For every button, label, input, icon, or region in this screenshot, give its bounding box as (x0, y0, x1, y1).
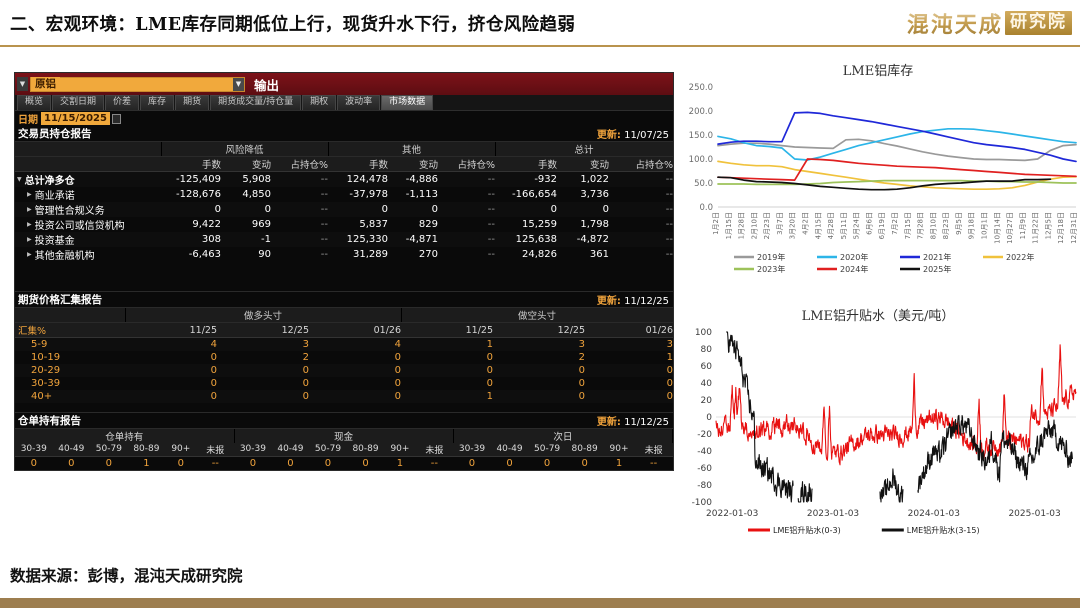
cot-cell: 0 (557, 202, 609, 217)
futures-cell: 3 (585, 338, 673, 351)
cot-cell: -- (438, 202, 495, 217)
cot-group-total: 总计 (495, 142, 673, 157)
svg-text:8月23日: 8月23日 (942, 212, 950, 239)
cot-cell: -- (609, 172, 673, 188)
svg-text:-40: -40 (697, 447, 712, 457)
expand-arrow-icon[interactable]: ▼ (17, 77, 28, 91)
cot-cell: -- (271, 172, 328, 188)
table-row[interactable]: ▶商业承诺 -128,676 4,850 -- -37,978 -1,113 -… (15, 187, 673, 202)
cot-cell: -166,654 (495, 187, 557, 202)
cot-cell: 0 (495, 202, 557, 217)
warrant-col: 50-79 (528, 443, 566, 457)
cot-cell: -- (271, 187, 328, 202)
warrant-title: 仓单持有报告 (18, 413, 81, 428)
svg-text:100: 100 (695, 328, 712, 338)
futures-cell: 0 (493, 377, 585, 390)
warrant-cell: 0 (165, 456, 196, 470)
futures-cell: 0 (309, 351, 401, 364)
futures-group-header: 做多头寸 做空头寸 (15, 308, 673, 323)
futures-cell: 0 (309, 377, 401, 390)
security-selector[interactable]: 原铝 ▼ (30, 77, 245, 92)
svg-text:4月15日: 4月15日 (814, 212, 822, 239)
futures-column-header: 汇集% 11/25 12/25 01/26 11/25 12/25 01/26 (15, 323, 673, 338)
cot-cell: -- (438, 232, 495, 247)
cot-cell: -6,463 (161, 247, 221, 262)
tab-delivery-date[interactable]: 交割日期 (52, 95, 104, 110)
svg-text:10月27日: 10月27日 (1006, 212, 1014, 244)
svg-text:1月2日: 1月2日 (712, 212, 720, 235)
date-selector-row: 日期 11/15/2025 (15, 111, 673, 126)
tab-spread[interactable]: 价差 (105, 95, 139, 110)
table-row[interactable]: ▶管理性合规义务 0 0 -- 0 0 -- 0 0 -- (15, 202, 673, 217)
security-name: 原铝 (31, 77, 60, 91)
cot-cell: 361 (557, 247, 609, 262)
svg-text:5月11日: 5月11日 (840, 212, 848, 239)
cot-cell: 308 (161, 232, 221, 247)
futures-cell: 0 (401, 351, 493, 364)
cot-cell: 0 (328, 202, 388, 217)
cot-cell: -- (609, 247, 673, 262)
slide: 二、宏观环境：LME库存同期低位上行，现货升水下行，挤仓风险趋弱 混沌天成 研究… (0, 0, 1080, 608)
svg-text:11月9日: 11月9日 (1019, 212, 1027, 239)
futures-col-long-2: 12/25 (217, 323, 309, 338)
table-row[interactable]: ▶投资公司或信贷机构 9,422 969 -- 5,837 829 -- 15,… (15, 217, 673, 232)
svg-text:7月2日: 7月2日 (891, 212, 899, 235)
svg-text:10月1日: 10月1日 (981, 212, 989, 239)
warrant-cell: -- (196, 456, 234, 470)
cot-cell: -- (271, 217, 328, 232)
tab-volatility[interactable]: 波动率 (337, 95, 380, 110)
bloomberg-terminal-panel: ▼ 原铝 ▼ 输出 概览 交割日期 价差 库存 期货 期货成交量/持仓量 期权 … (14, 72, 674, 471)
table-row[interactable]: 40+ 0 0 0 1 0 0 (15, 390, 673, 403)
cot-cell: 124,478 (328, 172, 388, 188)
svg-text:2月10日: 2月10日 (750, 212, 758, 239)
cot-cell: -- (438, 187, 495, 202)
futures-row-label: 40+ (15, 390, 125, 403)
cot-col-pct-2: 占持仓% (438, 157, 495, 172)
cot-group-header: 风险降低 其他 总计 (15, 142, 673, 157)
cot-cell: -- (609, 187, 673, 202)
warrant-updated: 更新: 11/12/25 (597, 413, 669, 428)
futures-col-short-1: 11/25 (401, 323, 493, 338)
futures-cell: 0 (401, 364, 493, 377)
cot-cell: 969 (221, 217, 271, 232)
svg-text:9月5日: 9月5日 (955, 212, 963, 235)
svg-text:4月2日: 4月2日 (802, 212, 810, 235)
tab-market-data[interactable]: 市场数据 (381, 95, 433, 110)
warrant-table: 仓单持有 现金 次日 30-39 40-49 50-79 80-89 90+ 未… (15, 429, 673, 471)
futures-cell: 0 (125, 351, 217, 364)
svg-text:2021年: 2021年 (923, 252, 951, 262)
warrant-col: 50-79 (309, 443, 347, 457)
warrant-col: 90+ (603, 443, 634, 457)
warrant-column-header: 30-39 40-49 50-79 80-89 90+ 未报 30-39 40-… (15, 443, 673, 457)
lme-inventory-chart: LME铝库存 0.050.0100.0150.0200.0250.01月2日1月… (676, 60, 1080, 275)
chart1-title: LME铝库存 (676, 60, 1080, 79)
svg-text:2024-01-03: 2024-01-03 (908, 509, 960, 519)
warrant-col: 30-39 (15, 443, 53, 457)
svg-text:2024年: 2024年 (840, 264, 868, 274)
svg-text:12月31日: 12月31日 (1070, 212, 1078, 244)
futures-col-short-2: 12/25 (493, 323, 585, 338)
svg-text:2025年: 2025年 (923, 264, 951, 274)
warrant-cell: -- (416, 456, 454, 470)
svg-text:6月6日: 6月6日 (865, 212, 873, 235)
page-title: 二、宏观环境：LME库存同期低位上行，现货升水下行，挤仓风险趋弱 (10, 11, 575, 36)
svg-text:2023-01-03: 2023-01-03 (807, 509, 859, 519)
output-button[interactable]: 输出 (254, 75, 279, 94)
cot-cell: -- (271, 232, 328, 247)
brand-logo: 混沌天成 研究院 (907, 6, 1072, 40)
chart1-canvas: 0.050.0100.0150.0200.0250.01月2日1月15日1月28… (676, 79, 1080, 275)
warrant-cell: 0 (53, 456, 91, 470)
cot-group-risk-reduce: 风险降低 (161, 142, 328, 157)
warrant-col: 80-89 (347, 443, 385, 457)
warrant-cell: 0 (491, 456, 529, 470)
warrant-col: 未报 (416, 443, 454, 457)
warrant-cell: 1 (384, 456, 415, 470)
table-row[interactable]: 10-19 0 2 0 0 2 1 (15, 351, 673, 364)
slide-header: 二、宏观环境：LME库存同期低位上行，现货升水下行，挤仓风险趋弱 混沌天成 研究… (0, 0, 1080, 52)
warrant-cell: 0 (272, 456, 310, 470)
futures-col-short-3: 01/26 (585, 323, 673, 338)
warrant-col: 30-39 (453, 443, 491, 457)
svg-text:2025-01-03: 2025-01-03 (1008, 509, 1060, 519)
warrant-col: 80-89 (566, 443, 604, 457)
futures-cell: 1 (401, 390, 493, 403)
futures-cell: 0 (585, 390, 673, 403)
cot-cell: -- (271, 202, 328, 217)
futures-group-blank (15, 308, 125, 323)
cot-cell: 4,850 (221, 187, 271, 202)
futures-cell: 1 (585, 351, 673, 364)
svg-text:11月22日: 11月22日 (1032, 212, 1040, 244)
futures-table: 做多头寸 做空头寸 汇集% 11/25 12/25 01/26 11/25 12… (15, 308, 674, 403)
cot-cell: -1,113 (388, 187, 438, 202)
svg-text:2022年: 2022年 (1006, 252, 1034, 262)
warrant-col: 未报 (635, 443, 673, 457)
futures-cell: 0 (125, 390, 217, 403)
cot-group-blank (15, 142, 161, 157)
cot-cell: -- (609, 232, 673, 247)
cot-cell: -932 (495, 172, 557, 188)
cot-cell: -37,978 (328, 187, 388, 202)
cot-cell: -4,872 (557, 232, 609, 247)
svg-text:7月15日: 7月15日 (904, 212, 912, 239)
cot-row-label: 其他金融机构 (35, 247, 95, 262)
cot-cell: 0 (161, 202, 221, 217)
futures-row-label: 30-39 (15, 377, 125, 390)
svg-text:0: 0 (706, 413, 712, 423)
svg-text:10月14日: 10月14日 (993, 212, 1001, 244)
warrant-col: 90+ (165, 443, 196, 457)
warrant-col: 40-49 (53, 443, 91, 457)
cot-cell: 9,422 (161, 217, 221, 232)
warrant-col: 40-49 (491, 443, 529, 457)
cot-cell: -- (271, 247, 328, 262)
cot-cell: -- (609, 217, 673, 232)
futures-cell: 0 (493, 390, 585, 403)
svg-text:2022-01-03: 2022-01-03 (706, 509, 758, 519)
warrant-cell: 0 (309, 456, 347, 470)
chart2-canvas: -100-80-60-40-200204060801002022-01-0320… (676, 324, 1080, 552)
expand-caret-icon[interactable]: ▶ (27, 191, 32, 198)
svg-text:250.0: 250.0 (689, 83, 713, 93)
warrant-col: 40-49 (272, 443, 310, 457)
cot-row-label: 管理性合规义务 (35, 202, 105, 217)
chart2-title: LME铝升贴水（美元/吨） (676, 305, 1080, 324)
futures-empty-space (15, 403, 673, 413)
futures-section-header: 期货价格汇集报告 更新: 11/12/25 (15, 292, 673, 308)
terminal-topbar: ▼ 原铝 ▼ 输出 (15, 73, 673, 95)
futures-cell: 2 (217, 351, 309, 364)
svg-text:LME铝升贴水(3-15): LME铝升贴水(3-15) (907, 525, 980, 535)
cot-col-change-2: 变动 (388, 157, 438, 172)
cot-cell: 15,259 (495, 217, 557, 232)
svg-text:4月28日: 4月28日 (827, 212, 835, 239)
cot-cell: 270 (388, 247, 438, 262)
futures-cell: 0 (585, 377, 673, 390)
warrant-cell: 0 (453, 456, 491, 470)
cot-cell: -128,676 (161, 187, 221, 202)
futures-row-label: 20-29 (15, 364, 125, 377)
svg-text:5月24日: 5月24日 (853, 212, 861, 239)
cot-col-lots-3: 手数 (495, 157, 557, 172)
cot-updated: 更新: 11/07/25 (597, 126, 669, 141)
futures-cell: 0 (217, 390, 309, 403)
cot-col-lots-1: 手数 (161, 157, 221, 172)
warrant-cell: -- (635, 456, 673, 470)
cot-cell: 1,798 (557, 217, 609, 232)
svg-text:7月28日: 7月28日 (917, 212, 925, 239)
table-row[interactable]: 0 0 0 1 0 -- 0 0 0 0 1 -- 0 0 0 0 1 -- (15, 456, 673, 470)
warrant-cell: 0 (528, 456, 566, 470)
svg-text:20: 20 (701, 396, 713, 406)
svg-text:1月28日: 1月28日 (738, 212, 746, 239)
date-label: 日期 (18, 111, 38, 126)
svg-text:-100: -100 (692, 498, 713, 508)
table-row[interactable]: 30-39 0 0 0 0 0 0 (15, 377, 673, 390)
futures-col-long-3: 01/26 (309, 323, 401, 338)
futures-cell: 0 (125, 377, 217, 390)
table-row[interactable]: ▶其他金融机构 -6,463 90 -- 31,289 270 -- 24,82… (15, 247, 673, 262)
futures-title: 期货价格汇集报告 (18, 292, 102, 307)
footer-bar (0, 598, 1080, 608)
futures-cell: 0 (217, 364, 309, 377)
cot-cell: 90 (221, 247, 271, 262)
cot-cell: -- (438, 172, 495, 188)
svg-text:8月10日: 8月10日 (929, 212, 937, 239)
cot-group-other: 其他 (328, 142, 495, 157)
warrant-cell: 1 (128, 456, 166, 470)
futures-cell: 0 (401, 377, 493, 390)
warrant-col: 未报 (196, 443, 234, 457)
expand-caret-icon[interactable]: ▶ (27, 206, 32, 213)
lme-premium-chart: LME铝升贴水（美元/吨） -100-80-60-40-200204060801… (676, 305, 1080, 555)
svg-text:-20: -20 (697, 430, 712, 440)
cot-row-label: 商业承诺 (35, 187, 75, 202)
tab-overview[interactable]: 概览 (17, 95, 51, 110)
warrant-cell: 0 (15, 456, 53, 470)
svg-text:1月15日: 1月15日 (725, 212, 733, 239)
expand-caret-icon[interactable]: ▼ (17, 176, 22, 183)
warrant-cell: 1 (603, 456, 634, 470)
calendar-icon[interactable] (112, 114, 121, 124)
cot-row-label: 投资基金 (35, 232, 75, 247)
cot-cell: -- (438, 217, 495, 232)
table-row[interactable]: 5-9 4 3 4 1 3 3 (15, 338, 673, 351)
svg-text:60: 60 (701, 362, 713, 372)
cot-col-change-1: 变动 (221, 157, 271, 172)
futures-cell: 4 (125, 338, 217, 351)
svg-text:LME铝升贴水(0-3): LME铝升贴水(0-3) (773, 525, 841, 535)
svg-text:2020年: 2020年 (840, 252, 868, 262)
futures-row-label: 10-19 (15, 351, 125, 364)
svg-text:12月18日: 12月18日 (1057, 212, 1065, 244)
svg-text:2019年: 2019年 (757, 252, 785, 262)
svg-text:100.0: 100.0 (689, 155, 713, 165)
warrant-col: 80-89 (128, 443, 166, 457)
cot-cell: -4,871 (388, 232, 438, 247)
svg-text:50.0: 50.0 (694, 179, 713, 189)
futures-cell: 0 (217, 377, 309, 390)
expand-caret-icon[interactable]: ▶ (27, 236, 32, 243)
cot-cell: -4,886 (388, 172, 438, 188)
logo-seal: 研究院 (1005, 11, 1072, 35)
futures-cell: 0 (585, 364, 673, 377)
cot-cell: -- (609, 202, 673, 217)
warrant-cell: 0 (347, 456, 385, 470)
tab-inventory[interactable]: 库存 (140, 95, 174, 110)
cot-cell: -- (438, 247, 495, 262)
table-row[interactable]: ▶投资基金 308 -1 -- 125,330 -4,871 -- 125,63… (15, 232, 673, 247)
cot-cell: 125,330 (328, 232, 388, 247)
cot-cell: -1 (221, 232, 271, 247)
warrant-cell: 0 (566, 456, 604, 470)
cot-section-header: 交易员持仓报告 更新: 11/07/25 (15, 126, 673, 142)
table-row[interactable]: ▼总计净多仓 -125,409 5,908 -- 124,478 -4,886 … (15, 172, 673, 188)
data-source-note: 数据来源：彭博，混沌天成研究院 (10, 564, 243, 586)
futures-cell: 0 (493, 364, 585, 377)
cot-col-change-3: 变动 (557, 157, 609, 172)
cot-empty-space (15, 262, 673, 292)
warrant-cell: 0 (90, 456, 128, 470)
svg-text:6月19日: 6月19日 (878, 212, 886, 239)
cot-row-label: 总计净多仓 (25, 172, 75, 187)
cot-cell: 829 (388, 217, 438, 232)
logo-wordmark: 混沌天成 (906, 7, 1004, 39)
futures-row-label: 5-9 (15, 338, 125, 351)
cot-cell: 31,289 (328, 247, 388, 262)
cot-table: 风险降低 其他 总计 手数 变动 占持仓% 手数 变动 占持仓% 手数 变动 占… (15, 142, 674, 262)
svg-text:150.0: 150.0 (689, 131, 713, 141)
cot-col-pct-3: 占持仓% (609, 157, 673, 172)
futures-group-long: 做多头寸 (125, 308, 401, 323)
svg-text:-60: -60 (697, 464, 712, 474)
warrant-group-nextday: 次日 (453, 429, 672, 443)
cot-cell: 24,826 (495, 247, 557, 262)
cot-title: 交易员持仓报告 (18, 126, 92, 141)
warrant-section-header: 仓单持有报告 更新: 11/12/25 (15, 413, 673, 429)
futures-cell: 2 (493, 351, 585, 364)
futures-corner-label: 汇集% (15, 323, 125, 338)
futures-cell: 1 (401, 338, 493, 351)
cot-cell: 1,022 (557, 172, 609, 188)
terminal-tabs: 概览 交割日期 价差 库存 期货 期货成交量/持仓量 期权 波动率 市场数据 (15, 95, 673, 111)
svg-text:200.0: 200.0 (689, 107, 713, 117)
warrant-col: 90+ (384, 443, 415, 457)
tab-futures[interactable]: 期货 (175, 95, 209, 110)
futures-cell: 0 (309, 364, 401, 377)
expand-caret-icon[interactable]: ▶ (27, 221, 32, 228)
svg-text:0.0: 0.0 (699, 203, 713, 213)
futures-group-short: 做空头寸 (401, 308, 673, 323)
cot-cell: 125,638 (495, 232, 557, 247)
futures-cell: 3 (217, 338, 309, 351)
futures-cell: 3 (493, 338, 585, 351)
cot-cell: 0 (388, 202, 438, 217)
svg-text:-80: -80 (697, 481, 712, 491)
tab-volume-oi[interactable]: 期货成交量/持仓量 (210, 95, 301, 110)
futures-cell: 4 (309, 338, 401, 351)
futures-updated: 更新: 11/12/25 (597, 292, 669, 307)
svg-text:3月7日: 3月7日 (776, 212, 784, 235)
svg-text:2023年: 2023年 (757, 264, 785, 274)
futures-cell: 0 (309, 390, 401, 403)
warrant-group-header: 仓单持有 现金 次日 (15, 429, 673, 443)
svg-text:2月23日: 2月23日 (763, 212, 771, 239)
svg-text:9月18日: 9月18日 (968, 212, 976, 239)
warrant-group-cash: 现金 (234, 429, 453, 443)
futures-cell: 0 (125, 364, 217, 377)
svg-text:3月20日: 3月20日 (789, 212, 797, 239)
cot-cell: 5,837 (328, 217, 388, 232)
svg-text:80: 80 (701, 345, 713, 355)
cot-column-header: 手数 变动 占持仓% 手数 变动 占持仓% 手数 变动 占持仓% (15, 157, 673, 172)
warrant-group-warrant: 仓单持有 (15, 429, 234, 443)
svg-text:12月5日: 12月5日 (1044, 212, 1052, 239)
cot-cell: 3,736 (557, 187, 609, 202)
warrant-col: 50-79 (90, 443, 128, 457)
cot-cell: -125,409 (161, 172, 221, 188)
cot-row-label: 投资公司或信贷机构 (35, 217, 125, 232)
cot-col-pct-1: 占持仓% (271, 157, 328, 172)
tab-options[interactable]: 期权 (302, 95, 336, 110)
header-divider (0, 45, 1080, 47)
futures-col-long-1: 11/25 (125, 323, 217, 338)
cot-cell: 5,908 (221, 172, 271, 188)
svg-text:40: 40 (701, 379, 713, 389)
expand-caret-icon[interactable]: ▶ (27, 251, 32, 258)
chevron-down-icon[interactable]: ▼ (233, 78, 244, 91)
warrant-cell: 0 (234, 456, 272, 470)
warrant-col: 30-39 (234, 443, 272, 457)
cot-col-lots-2: 手数 (328, 157, 388, 172)
date-input[interactable]: 11/15/2025 (41, 112, 110, 125)
table-row[interactable]: 20-29 0 0 0 0 0 0 (15, 364, 673, 377)
cot-cell: 0 (221, 202, 271, 217)
